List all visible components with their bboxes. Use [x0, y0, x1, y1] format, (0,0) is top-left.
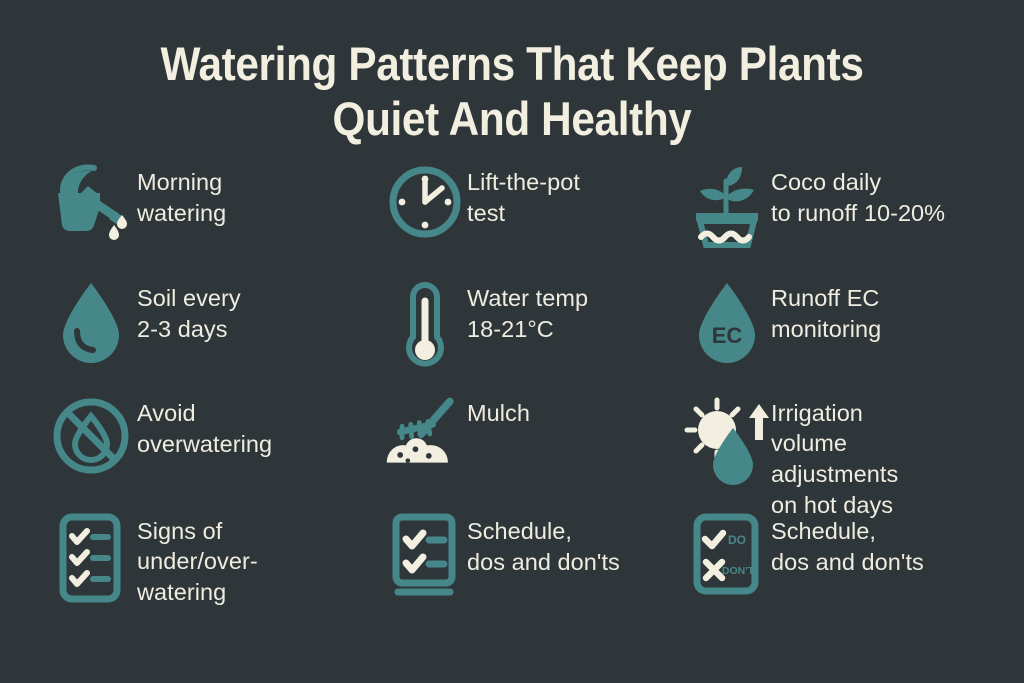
tip-signs-of-under-over-watering: Signs of under/over- watering	[45, 510, 383, 630]
thermometer-icon	[383, 277, 467, 373]
tip-schedule-dos-and-donts: Schedule, dos and don'ts	[383, 510, 683, 630]
do-label: DO	[728, 533, 746, 547]
tip-label: Mulch	[467, 392, 683, 429]
potted-plant-icon	[683, 161, 771, 249]
ec-drop-icon: EC	[683, 277, 771, 367]
page-title: Watering Patterns That Keep Plants Quiet…	[75, 36, 950, 147]
sun-drop-arrow-icon	[683, 392, 771, 486]
tip-label: Runoff EC monitoring	[771, 277, 1023, 346]
watering-can-icon	[45, 161, 137, 243]
ec-label: EC	[712, 323, 743, 348]
infographic-poster: Watering Patterns That Keep Plants Quiet…	[0, 0, 1024, 683]
tip-label: Morning watering	[137, 161, 383, 230]
rake-mulch-icon	[383, 392, 467, 472]
tip-runoff-ec-monitoring: EC Runoff EC monitoring	[683, 277, 1023, 392]
page-title-line-2: Quiet And Healthy	[75, 91, 950, 146]
water-drop-icon	[45, 277, 137, 367]
tip-label: Irrigation volume adjustments on hot day…	[771, 392, 1023, 520]
dont-label: DON'T	[722, 565, 755, 577]
tip-label: Schedule, dos and don'ts	[467, 510, 683, 579]
do-dont-card-icon: DO DON'T	[683, 510, 771, 598]
tip-avoid-overwatering: Avoid overwatering	[45, 392, 383, 510]
tip-label: Coco daily to runoff 10-20%	[771, 161, 1023, 230]
tip-mulch: Mulch	[383, 392, 683, 510]
tips-grid: Morning watering Lift-the-pot test	[26, 161, 998, 630]
tip-morning-watering: Morning watering	[45, 161, 383, 277]
tip-coco-daily-runoff: Coco daily to runoff 10-20%	[683, 161, 1023, 277]
tip-label: Schedule, dos and don'ts	[771, 510, 1023, 579]
no-water-icon	[45, 392, 137, 478]
tip-label: Avoid overwatering	[137, 392, 383, 461]
tip-label: Signs of under/over- watering	[137, 510, 383, 608]
tip-label: Soil every 2-3 days	[137, 277, 383, 346]
checklist-three-icon	[45, 510, 137, 606]
tip-schedule-do-dont: DO DON'T Schedule, dos and don'ts	[683, 510, 1023, 630]
tip-lift-the-pot-test: Lift-the-pot test	[383, 161, 683, 277]
tip-water-temperature: Water temp 18-21°C	[383, 277, 683, 392]
checklist-two-icon	[383, 510, 467, 602]
tip-label: Lift-the-pot test	[467, 161, 683, 230]
page-title-line-1: Watering Patterns That Keep Plants	[75, 36, 950, 91]
tip-soil-every-2-3-days: Soil every 2-3 days	[45, 277, 383, 392]
tip-label: Water temp 18-21°C	[467, 277, 683, 346]
tip-irrigation-volume-hot-days: Irrigation volume adjustments on hot day…	[683, 392, 1023, 510]
clock-icon	[383, 161, 467, 241]
